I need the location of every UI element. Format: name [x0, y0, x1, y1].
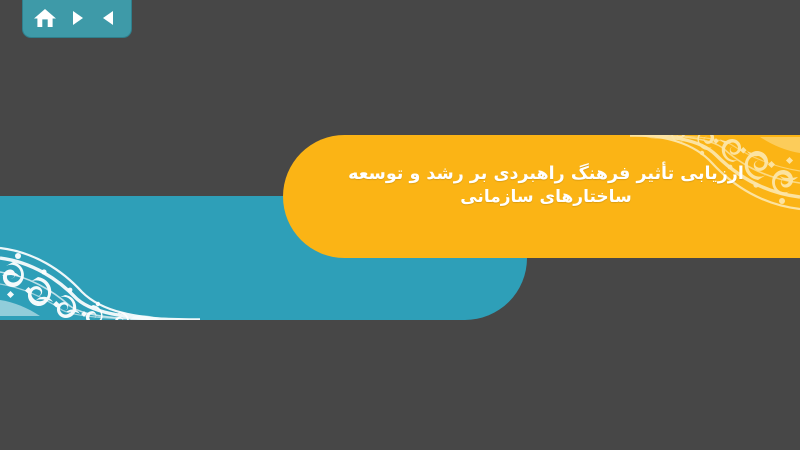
title-line-1: ارزیابی تأثیر فرهنگ راهبردی بر رشد و توس… [320, 163, 772, 186]
title-banner: ارزیابی تأثیر فرهنگ راهبردی بر رشد و توس… [283, 135, 800, 258]
arabesque-ornament [0, 196, 200, 320]
page-title: ارزیابی تأثیر فرهنگ راهبردی بر رشد و توس… [320, 163, 772, 209]
home-button[interactable] [32, 5, 58, 31]
triangle-right-icon [67, 8, 87, 28]
forward-button[interactable] [64, 5, 90, 31]
back-button[interactable] [96, 5, 122, 31]
navigation-bar [22, 0, 132, 38]
title-line-2: ساختارهای سازمانی [320, 186, 772, 209]
triangle-left-icon [99, 8, 119, 28]
home-icon [33, 7, 57, 29]
